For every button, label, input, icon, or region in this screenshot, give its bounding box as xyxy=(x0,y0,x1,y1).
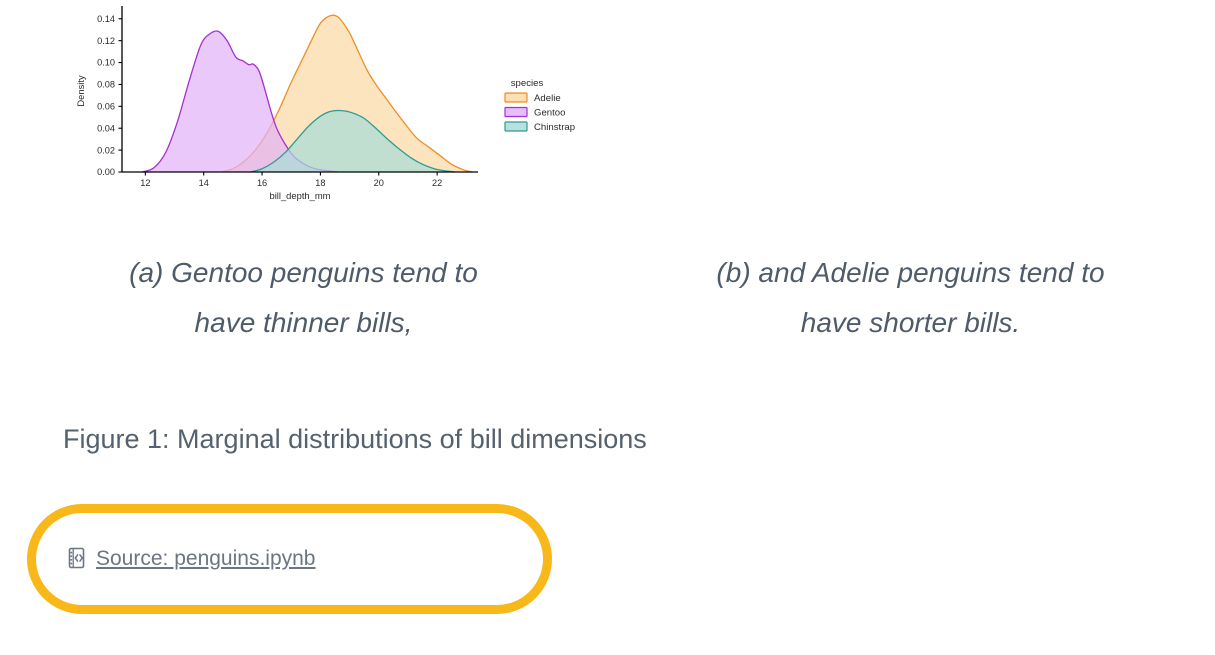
source-label: Source: penguins.ipynb xyxy=(96,548,316,569)
y-tick-label: 0.10 xyxy=(97,58,115,68)
y-tick-label: 0.00 xyxy=(97,167,115,177)
notebook-code-icon xyxy=(65,546,87,570)
subcaption-a-line-2: have thinner bills, xyxy=(52,298,555,348)
subcaption-b: (b) and Adelie penguins tend to have sho… xyxy=(607,248,1214,348)
legend-swatch-adelie xyxy=(505,93,527,102)
legend-swatch-gentoo xyxy=(505,108,527,117)
y-tick-label: 0.02 xyxy=(97,145,115,155)
x-tick-label: 18 xyxy=(315,178,325,188)
subcaption-a: (a) Gentoo penguins tend to have thinner… xyxy=(0,248,607,348)
source-notebook-link[interactable]: Source: penguins.ipynb xyxy=(65,546,316,570)
x-tick-label: 20 xyxy=(374,178,384,188)
y-tick-label: 0.04 xyxy=(97,123,115,133)
bill-depth-kde-chart: 0.000.020.040.060.080.100.120.1412141618… xyxy=(0,0,607,215)
y-tick-label: 0.08 xyxy=(97,80,115,90)
bill-length-kde-chart: 0.000.010.020.030.040.0530354045505560bi… xyxy=(607,0,1214,215)
subfigure-b: 0.000.010.020.030.040.0530354045505560bi… xyxy=(607,0,1214,215)
subcaption-b-line-2: have shorter bills. xyxy=(659,298,1162,348)
legend-swatch-chinstrap xyxy=(505,122,527,131)
y-tick-label: 0.06 xyxy=(97,102,115,112)
legend-label-gentoo: Gentoo xyxy=(534,108,565,119)
legend-label-chinstrap: Chinstrap xyxy=(534,122,575,133)
subfigure-a: 0.000.020.040.060.080.100.120.1412141618… xyxy=(0,0,607,215)
figure-caption-title: Figure 1: Marginal distributions of bill… xyxy=(63,424,647,455)
legend-title: species xyxy=(511,78,544,89)
x-tick-label: 14 xyxy=(199,178,209,188)
legend-label-adelie: Adelie xyxy=(534,93,561,104)
x-tick-label: 12 xyxy=(140,178,150,188)
x-axis-label: bill_depth_mm xyxy=(270,190,331,201)
y-tick-label: 0.14 xyxy=(97,14,115,24)
figure-panel-row: 0.000.020.040.060.080.100.120.1412141618… xyxy=(0,0,1215,215)
subcaption-row: (a) Gentoo penguins tend to have thinner… xyxy=(0,248,1215,348)
y-axis-label: Density xyxy=(75,75,86,107)
subcaption-a-line-1: (a) Gentoo penguins tend to xyxy=(52,248,555,298)
y-tick-label: 0.12 xyxy=(97,36,115,46)
subcaption-b-line-1: (b) and Adelie penguins tend to xyxy=(659,248,1162,298)
x-tick-label: 16 xyxy=(257,178,267,188)
x-tick-label: 22 xyxy=(432,178,442,188)
